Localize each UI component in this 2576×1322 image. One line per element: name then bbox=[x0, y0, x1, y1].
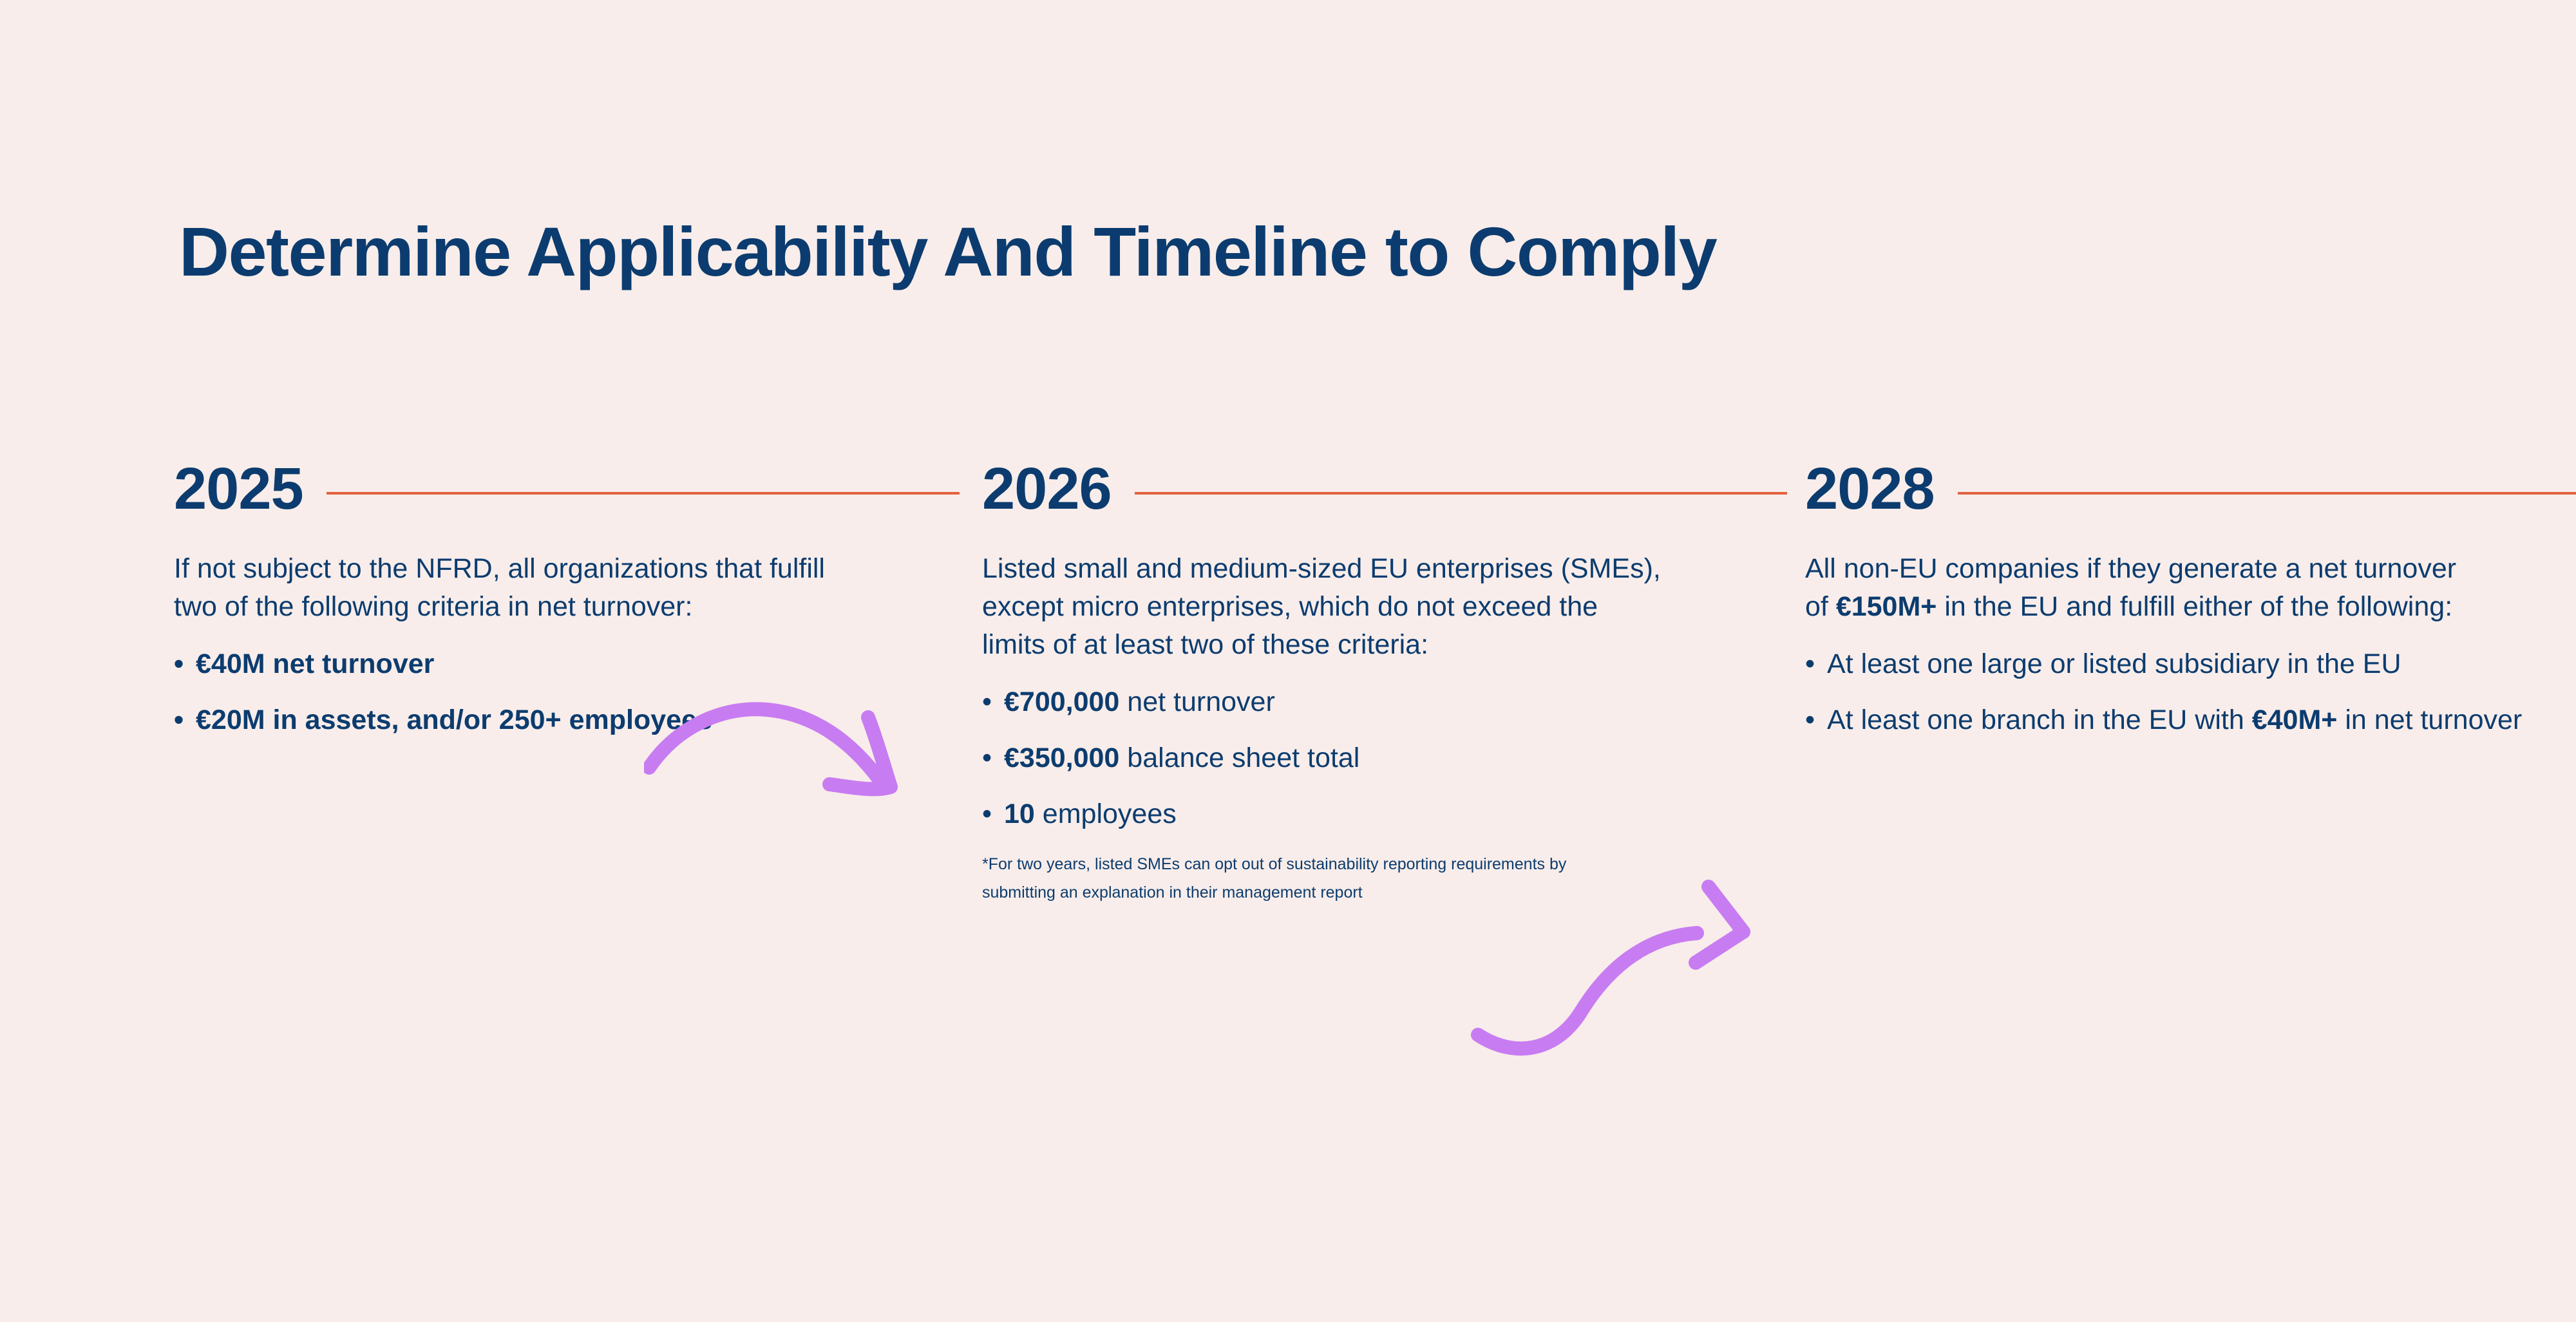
list-item: €40M net turnover bbox=[174, 645, 960, 683]
bullet-value: €350,000 bbox=[1004, 742, 1119, 773]
column-lead-2028: All non-EU companies if they generate a … bbox=[1805, 550, 2468, 626]
bullet-value: €700,000 bbox=[1004, 686, 1119, 717]
list-item: €350,000 balance sheet total bbox=[982, 739, 1787, 777]
year-header-2025: 2025 bbox=[174, 451, 960, 527]
list-item: At least one branch in the EU with €40M+… bbox=[1805, 701, 2576, 739]
year-rule-2028 bbox=[1958, 492, 2576, 495]
timeline-column-2025: 2025 If not subject to the NFRD, all org… bbox=[174, 451, 960, 757]
page-title: Determine Applicability And Timeline to … bbox=[179, 215, 1716, 288]
bullet-value: €40M bbox=[196, 648, 265, 679]
lead-highlight: €150M+ bbox=[1836, 591, 1937, 622]
bullet-value: €40M+ bbox=[2252, 704, 2338, 735]
bullet-text: net turnover bbox=[1119, 686, 1274, 717]
year-label-2028: 2028 bbox=[1805, 459, 1935, 518]
bullet-text: At least one large or listed subsidiary … bbox=[1827, 648, 2401, 679]
bullet-text: balance sheet total bbox=[1119, 742, 1359, 773]
year-label-2025: 2025 bbox=[174, 459, 303, 518]
column-body-2028: All non-EU companies if they generate a … bbox=[1805, 550, 2576, 739]
list-item: At least one large or listed subsidiary … bbox=[1805, 645, 2576, 683]
column-body-2026: Listed small and medium-sized EU enterpr… bbox=[982, 550, 1787, 907]
bullet-text: employees bbox=[1035, 798, 1177, 829]
column-lead-2025: If not subject to the NFRD, all organiza… bbox=[174, 550, 857, 626]
list-item: €20M in assets, and/or 250+ employees bbox=[174, 701, 960, 739]
column-lead-2026: Listed small and medium-sized EU enterpr… bbox=[982, 550, 1665, 664]
year-rule-2026 bbox=[1135, 492, 1787, 495]
infographic-canvas: Determine Applicability And Timeline to … bbox=[0, 0, 2576, 1322]
year-header-2026: 2026 bbox=[982, 451, 1787, 527]
timeline-column-2028: 2028 All non-EU companies if they genera… bbox=[1805, 451, 2576, 757]
bullet-text: At least one branch in the EU with bbox=[1827, 704, 2252, 735]
bullet-text: net turnover bbox=[265, 648, 435, 679]
bullet-text: in assets, and/or 250+ employees bbox=[265, 704, 712, 735]
year-header-2028: 2028 bbox=[1805, 451, 2576, 527]
timeline-column-2026: 2026 Listed small and medium-sized EU en… bbox=[982, 451, 1787, 907]
bullet-tail: in net turnover bbox=[2337, 704, 2522, 735]
list-item: 10 employees bbox=[982, 795, 1787, 833]
year-rule-2025 bbox=[327, 492, 960, 495]
year-label-2026: 2026 bbox=[982, 459, 1112, 518]
criteria-list-2028: At least one large or listed subsidiary … bbox=[1805, 645, 2576, 739]
bullet-value: €20M bbox=[196, 704, 265, 735]
criteria-list-2026: €700,000 net turnover €350,000 balance s… bbox=[982, 683, 1787, 833]
bullet-value: 10 bbox=[1004, 798, 1035, 829]
timeline-columns: 2025 If not subject to the NFRD, all org… bbox=[0, 451, 2576, 1223]
column-body-2025: If not subject to the NFRD, all organiza… bbox=[174, 550, 960, 739]
list-item: €700,000 net turnover bbox=[982, 683, 1787, 721]
criteria-list-2025: €40M net turnover €20M in assets, and/or… bbox=[174, 645, 960, 739]
lead-part: in the EU and fulfill either of the foll… bbox=[1937, 591, 2452, 622]
footnote-2026: *For two years, listed SMEs can opt out … bbox=[982, 851, 1600, 907]
